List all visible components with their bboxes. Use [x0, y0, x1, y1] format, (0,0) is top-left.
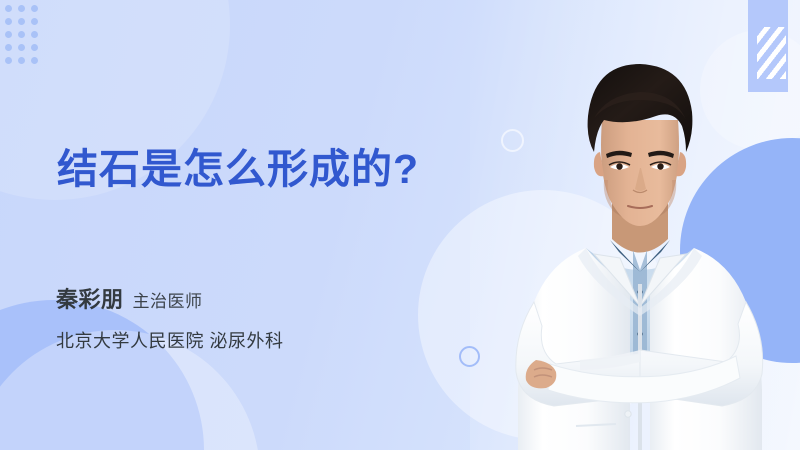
dot [31, 18, 38, 25]
doctor-portrait [490, 34, 790, 450]
dot [31, 31, 38, 38]
dot [18, 31, 25, 38]
doctor-affiliation: 北京大学人民医院 泌尿外科 [56, 327, 284, 353]
dot [31, 57, 38, 64]
dot [18, 44, 25, 51]
dot [31, 44, 38, 51]
dot [18, 57, 25, 64]
dot [5, 31, 12, 38]
doctor-byline: 秦彩朋主治医师 [56, 282, 203, 314]
doctor-rank: 主治医师 [133, 292, 203, 311]
cover-canvas: 结石是怎么形成的? 秦彩朋主治医师 北京大学人民医院 泌尿外科 [0, 0, 800, 450]
doctor-name: 秦彩朋 [56, 287, 124, 312]
dot [5, 5, 12, 12]
dot [5, 57, 12, 64]
page-title: 结石是怎么形成的? [57, 144, 419, 194]
dot [18, 5, 25, 12]
dot [5, 44, 12, 51]
ring-lower-center-icon [459, 346, 480, 367]
dot [18, 18, 25, 25]
dot [31, 5, 38, 12]
dot-grid-decoration [5, 5, 45, 71]
dot [5, 18, 12, 25]
